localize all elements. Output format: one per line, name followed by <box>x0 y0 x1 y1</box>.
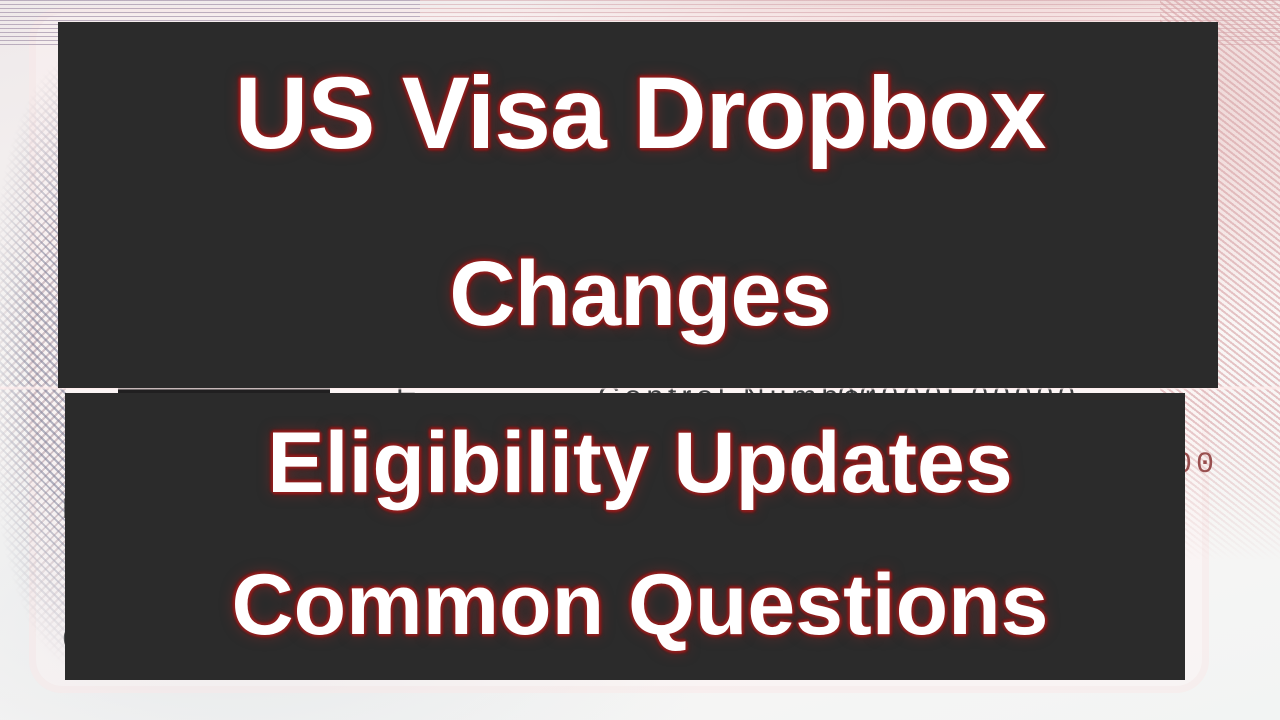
thumbnail-canvas: VISA Issuing Post Name EEEEEEEEE Surname… <box>0 0 1280 720</box>
headline-line-4: Common Questions <box>0 562 1280 648</box>
headline-line-2: Changes <box>0 248 1280 340</box>
headline-line-1: US Visa Dropbox <box>0 62 1280 164</box>
headline-line-3: Eligibility Updates <box>0 420 1280 506</box>
